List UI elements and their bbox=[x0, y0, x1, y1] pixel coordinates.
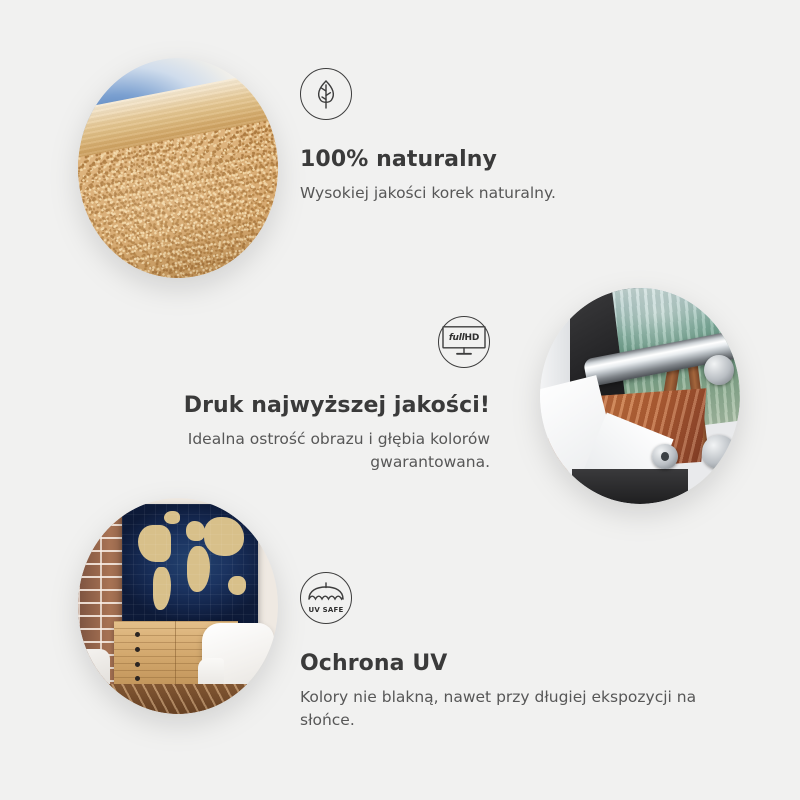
cork-photo-inner bbox=[78, 58, 278, 278]
uv-safe-icon-label: UV SAFE bbox=[301, 606, 351, 614]
fullhd-icon-wrap: fullHD bbox=[160, 316, 490, 368]
feature-block-uv: UV SAFE Ochrona UV Kolory nie blakną, na… bbox=[300, 572, 710, 732]
feature-description: Kolory nie blakną, nawet przy długiej ek… bbox=[300, 686, 710, 733]
uv-safe-umbrella-icon: UV SAFE bbox=[300, 572, 352, 624]
feature-block-natural: 100% naturalny Wysokiej jakości korek na… bbox=[300, 68, 556, 205]
continent-australia bbox=[228, 576, 246, 595]
dresser-knob bbox=[135, 647, 140, 652]
feature-block-print: fullHD Druk najwyższej jakości! Idealna … bbox=[160, 316, 490, 474]
uv-safe-icon-wrap: UV SAFE bbox=[300, 572, 710, 624]
fullhd-monitor-icon: fullHD bbox=[438, 316, 490, 368]
interior-photo-inner bbox=[78, 498, 278, 714]
dresser-knob bbox=[135, 676, 140, 681]
continent-north-america bbox=[138, 525, 171, 563]
roller-knob-center bbox=[652, 444, 678, 470]
feature-heading: 100% naturalny bbox=[300, 146, 556, 174]
feature-heading: Druk najwyższej jakości! bbox=[160, 392, 490, 420]
feature-graphic-canvas: 100% naturalny Wysokiej jakości korek na… bbox=[0, 0, 800, 800]
continent-asia bbox=[204, 517, 245, 556]
fullhd-label-hd: HD bbox=[465, 333, 480, 343]
printing-machine-photo bbox=[540, 288, 740, 504]
roller-knob-upper-right bbox=[704, 355, 734, 385]
printer-base bbox=[572, 469, 688, 504]
fullhd-label-full: full bbox=[449, 333, 465, 343]
fullhd-icon-label: fullHD bbox=[449, 333, 479, 343]
cork-board-closeup-photo bbox=[78, 58, 278, 278]
leaf-icon-wrap bbox=[300, 68, 556, 120]
world-map-artwork bbox=[122, 504, 258, 629]
interior-world-map-photo bbox=[78, 498, 278, 714]
dresser-knob bbox=[135, 662, 140, 667]
feature-heading: Ochrona UV bbox=[300, 650, 710, 678]
continent-europe bbox=[186, 521, 205, 541]
continent-greenland bbox=[164, 511, 180, 525]
dresser-knob bbox=[135, 632, 140, 637]
feature-description: Idealna ostrość obrazu i głębia kolorów … bbox=[160, 428, 490, 475]
continent-south-america bbox=[153, 567, 171, 610]
leaf-icon bbox=[300, 68, 352, 120]
printer-photo-inner bbox=[540, 288, 740, 504]
herringbone-wood-floor bbox=[78, 684, 278, 714]
continent-africa bbox=[187, 546, 210, 592]
feature-description: Wysokiej jakości korek naturalny. bbox=[300, 182, 556, 205]
